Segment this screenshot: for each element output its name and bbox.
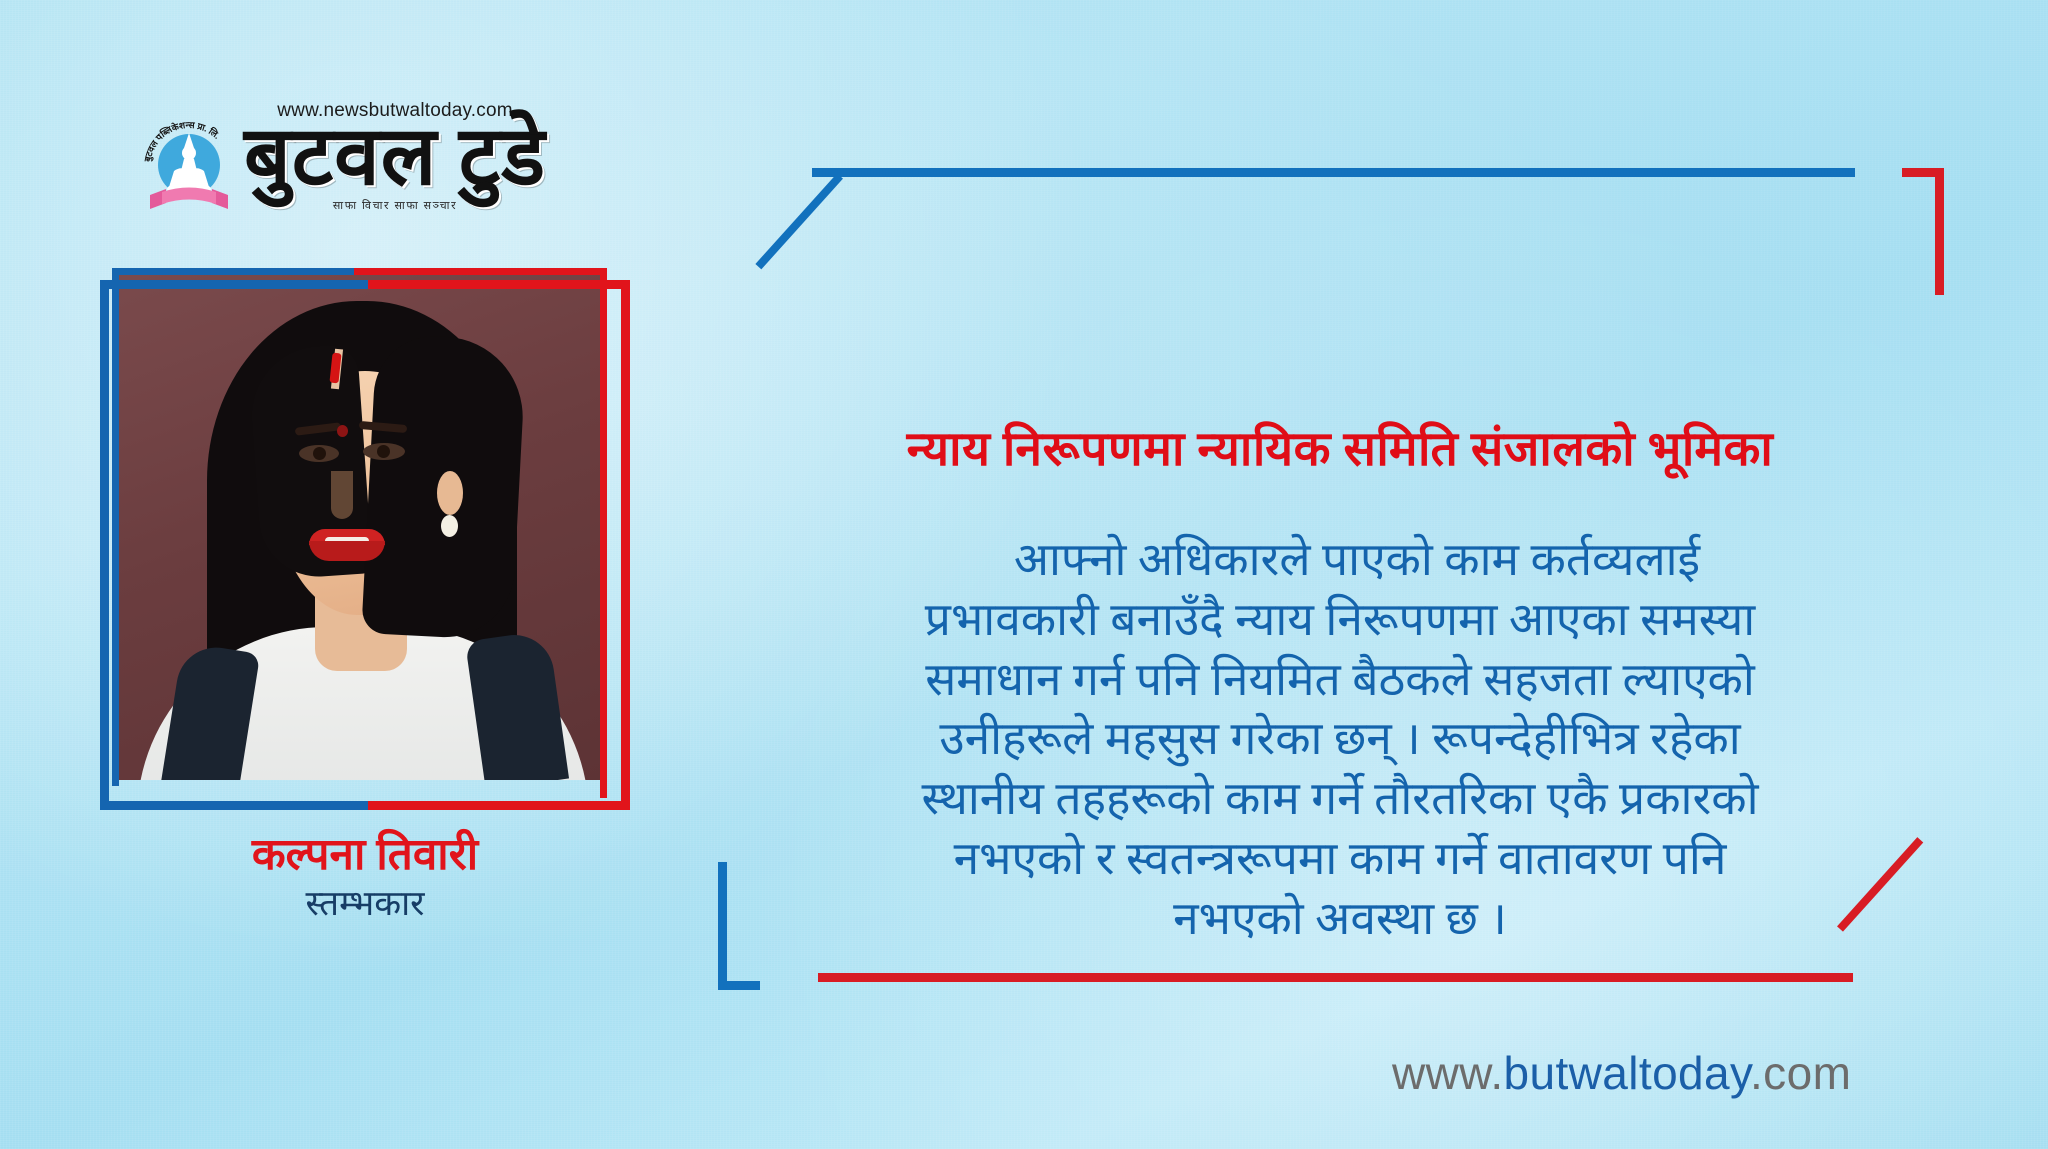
frame-inner-accent-blue-left: [112, 268, 119, 786]
author-role: स्तम्भकार: [100, 883, 630, 925]
decor-top-right-bracket-vertical: [1935, 168, 1944, 295]
body-line: उनीहरूले महसुस गरेका छन् । रूपन्देहीभित्…: [740, 709, 1940, 769]
body-line: स्थानीय तहहरूको काम गर्ने तौरतरिका एकै प…: [740, 769, 1940, 829]
author-name: कल्पना तिवारी: [100, 830, 630, 881]
frame-blue-left: [100, 280, 109, 810]
url-prefix: www.: [1392, 1047, 1504, 1099]
body-line: नभएको अवस्था छ ।: [740, 889, 1940, 949]
frame-red-bottom: [368, 801, 630, 810]
masthead-logo[interactable]: बुटवल पब्लिकेशन्स प्रा. लि. www.newsbutw…: [140, 100, 546, 213]
frame-red-right: [621, 280, 630, 810]
frame-inner-accent-red-top: [354, 268, 607, 275]
decor-bottom-left-bracket-vertical: [718, 862, 727, 990]
decor-bottom-left-bracket-horizontal: [718, 981, 760, 990]
decor-top-left-diagonal: [755, 173, 843, 269]
body-line: नभएको र स्वतन्त्ररूपमा काम गर्ने वातावरण…: [740, 829, 1940, 889]
publication-emblem-icon: बुटवल पब्लिकेशन्स प्रा. लि.: [140, 105, 238, 209]
masthead-tagline: साफा विचार साफा सञ्चार: [333, 198, 457, 213]
page-title: न्याय निरूपणमा न्यायिक समिति संजालको भूम…: [760, 420, 1920, 480]
author-caption: कल्पना तिवारी स्तम्भकार: [100, 830, 630, 925]
article-body: आफ्नो अधिकारले पाएको काम कर्तव्यलाई प्रभ…: [740, 530, 1940, 949]
frame-red-top: [368, 280, 630, 289]
decor-bottom-rule-red: [818, 973, 1853, 982]
url-tld: .com: [1750, 1047, 1851, 1099]
body-line: समाधान गर्न पनि नियमित बैठकले सहजता ल्या…: [740, 650, 1940, 710]
body-line: आफ्नो अधिकारले पाएको काम कर्तव्यलाई: [740, 530, 1940, 590]
body-line: प्रभावकारी बनाउँदै न्याय निरूपणमा आएका स…: [740, 590, 1940, 650]
url-domain: butwaltoday: [1504, 1047, 1750, 1099]
footer-website-url[interactable]: www.butwaltoday.com: [1392, 1046, 1851, 1100]
frame-blue-top: [100, 280, 368, 289]
frame-inner-accent-red-right: [600, 268, 607, 798]
frame-blue-bottom: [100, 801, 368, 810]
masthead-wordmark: बुटवल टुडे: [244, 118, 546, 197]
frame-inner-accent-blue-top: [112, 268, 354, 275]
article-graphic-card: बुटवल पब्लिकेशन्स प्रा. लि. www.newsbutw…: [0, 0, 2048, 1149]
wordmark-lockup: www.newsbutwaltoday.com बुटवल टुडे साफा …: [244, 100, 546, 213]
author-portrait-frame: [100, 280, 630, 810]
decor-top-rule-blue: [812, 168, 1855, 177]
avatar: [119, 275, 600, 780]
